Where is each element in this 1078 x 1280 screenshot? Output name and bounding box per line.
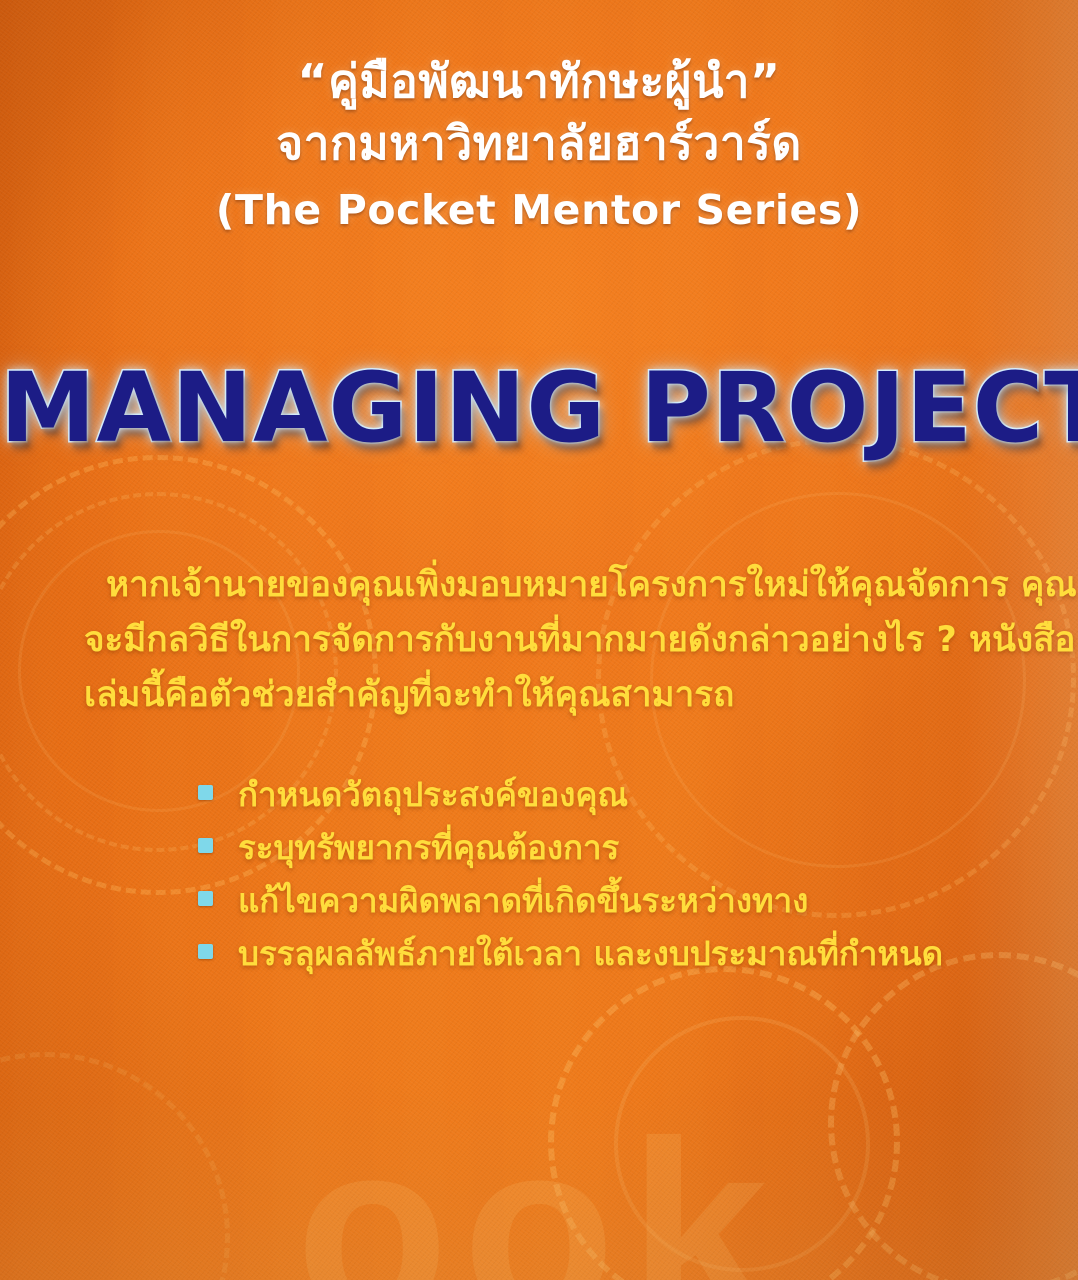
series-thai-line-1: “คู่มือพัฒนาทักษะผู้นำ”	[0, 52, 1078, 112]
benefits-list: กำหนดวัตถุประสงค์ของคุณ ระบุทรัพยากรที่ค…	[198, 768, 998, 980]
square-bullet-icon	[198, 944, 213, 959]
blurb-line-1: หากเจ้านายของคุณเพิ่งมอบหมายโครงการใหม่ใ…	[106, 558, 982, 613]
list-item-label: บรรลุผลลัพธ์ภายใต้เวลา และงบประมาณที่กำห…	[238, 927, 943, 980]
series-english-line: (The Pocket Mentor Series)	[0, 184, 1078, 237]
square-bullet-icon	[198, 838, 213, 853]
list-item-label: กำหนดวัตถุประสงค์ของคุณ	[238, 768, 628, 821]
blurb-paragraph: หากเจ้านายของคุณเพิ่งมอบหมายโครงการใหม่ใ…	[106, 558, 982, 723]
list-item: ระบุทรัพยากรที่คุณต้องการ	[198, 821, 998, 874]
blurb-line-2: จะมีกลวิธีในการจัดการกับงานที่มากมายดังก…	[84, 613, 982, 668]
list-item-label: แก้ไขความผิดพลาดที่เกิดขึ้นระหว่างทาง	[238, 874, 808, 927]
list-item-label: ระบุทรัพยากรที่คุณต้องการ	[238, 821, 619, 874]
list-item: แก้ไขความผิดพลาดที่เกิดขึ้นระหว่างทาง	[198, 874, 998, 927]
book-back-cover: ook “คู่มือพัฒนาทักษะผู้นำ” จากมหาวิทยาล…	[0, 0, 1078, 1280]
square-bullet-icon	[198, 891, 213, 906]
square-bullet-icon	[198, 785, 213, 800]
list-item: กำหนดวัตถุประสงค์ของคุณ	[198, 768, 998, 821]
blurb-line-3: เล่มนี้คือตัวช่วยสำคัญที่จะทำให้คุณสามาร…	[84, 668, 982, 723]
list-item: บรรลุผลลัพธ์ภายใต้เวลา และงบประมาณที่กำห…	[198, 927, 998, 980]
series-thai-line-2: จากมหาวิทยาลัยฮาร์วาร์ด	[0, 114, 1078, 174]
series-heading: “คู่มือพัฒนาทักษะผู้นำ” จากมหาวิทยาลัยฮา…	[0, 52, 1078, 237]
book-title: MANAGING PROJECTS	[0, 352, 1078, 464]
cover-content: “คู่มือพัฒนาทักษะผู้นำ” จากมหาวิทยาลัยฮา…	[0, 0, 1078, 1280]
